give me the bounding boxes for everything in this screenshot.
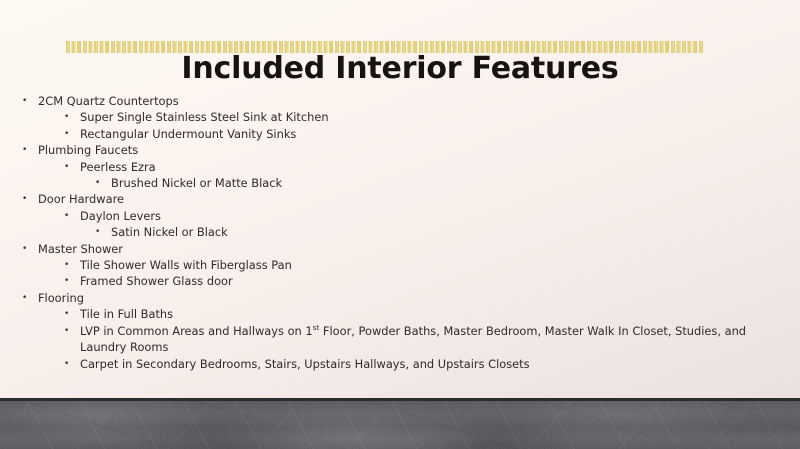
feature-item-level-2: •Rectangular Undermount Vanity Sinks <box>80 126 790 142</box>
feature-item-label: Flooring <box>38 290 84 306</box>
feature-item-level-2: •Tile Shower Walls with Fiberglass Pan <box>80 257 790 273</box>
feature-item-label: Tile Shower Walls with Fiberglass Pan <box>80 257 292 273</box>
feature-item-label: Rectangular Undermount Vanity Sinks <box>80 126 296 142</box>
bullet-icon: • <box>22 142 27 158</box>
feature-item-level-2: •Carpet in Secondary Bedrooms, Stairs, U… <box>80 356 790 372</box>
bullet-icon: • <box>22 93 27 109</box>
bullet-icon: • <box>64 323 69 339</box>
feature-item-label: Framed Shower Glass door <box>80 273 233 289</box>
feature-item-label: Master Shower <box>38 241 123 257</box>
features-bullet-list: •2CM Quartz Countertops•Super Single Sta… <box>0 93 790 372</box>
feature-item-level-1: •Plumbing Faucets <box>38 142 790 158</box>
feature-item-level-2: •Framed Shower Glass door <box>80 273 790 289</box>
feature-item-level-2: •Daylon Levers <box>80 208 790 224</box>
feature-item-level-1: •Master Shower <box>38 241 790 257</box>
bullet-icon: • <box>22 191 27 207</box>
feature-item-label: Plumbing Faucets <box>38 142 138 158</box>
feature-item-label: Tile in Full Baths <box>80 306 173 322</box>
feature-item-label: Brushed Nickel or Matte Black <box>111 175 282 191</box>
feature-item-label: LVP in Common Areas and Hallways on 1st … <box>80 323 790 356</box>
bullet-icon: • <box>64 257 69 273</box>
feature-item-label: Daylon Levers <box>80 208 161 224</box>
feature-item-level-2: •Peerless Ezra <box>80 159 790 175</box>
feature-item-level-3: •Satin Nickel or Black <box>111 224 790 240</box>
bullet-icon: • <box>64 273 69 289</box>
feature-item-label: Carpet in Secondary Bedrooms, Stairs, Up… <box>80 356 530 372</box>
bullet-icon: • <box>64 159 69 175</box>
bullet-icon: • <box>64 208 69 224</box>
feature-item-label: Door Hardware <box>38 191 124 207</box>
feature-item-level-1: •2CM Quartz Countertops <box>38 93 790 109</box>
bullet-icon: • <box>64 306 69 322</box>
stone-grain <box>0 401 800 449</box>
slide: Included Interior Features •2CM Quartz C… <box>0 0 800 449</box>
feature-item-level-1: •Flooring <box>38 290 790 306</box>
page-title: Included Interior Features <box>0 52 800 86</box>
bullet-icon: • <box>64 109 69 125</box>
bullet-icon: • <box>22 290 27 306</box>
bullet-icon: • <box>22 241 27 257</box>
feature-item-level-2: •Tile in Full Baths <box>80 306 790 322</box>
feature-item-level-3: •Brushed Nickel or Matte Black <box>111 175 790 191</box>
stone-band <box>0 401 800 449</box>
feature-item-label: Peerless Ezra <box>80 159 156 175</box>
bullet-icon: • <box>95 175 100 191</box>
bullet-icon: • <box>64 126 69 142</box>
feature-item-level-2: •Super Single Stainless Steel Sink at Ki… <box>80 109 790 125</box>
bullet-icon: • <box>64 356 69 372</box>
feature-item-label: 2CM Quartz Countertops <box>38 93 179 109</box>
feature-item-level-2: •LVP in Common Areas and Hallways on 1st… <box>80 323 790 356</box>
feature-item-label: Satin Nickel or Black <box>111 224 228 240</box>
feature-item-label: Super Single Stainless Steel Sink at Kit… <box>80 109 329 125</box>
bullet-icon: • <box>95 224 100 240</box>
feature-item-level-1: •Door Hardware <box>38 191 790 207</box>
